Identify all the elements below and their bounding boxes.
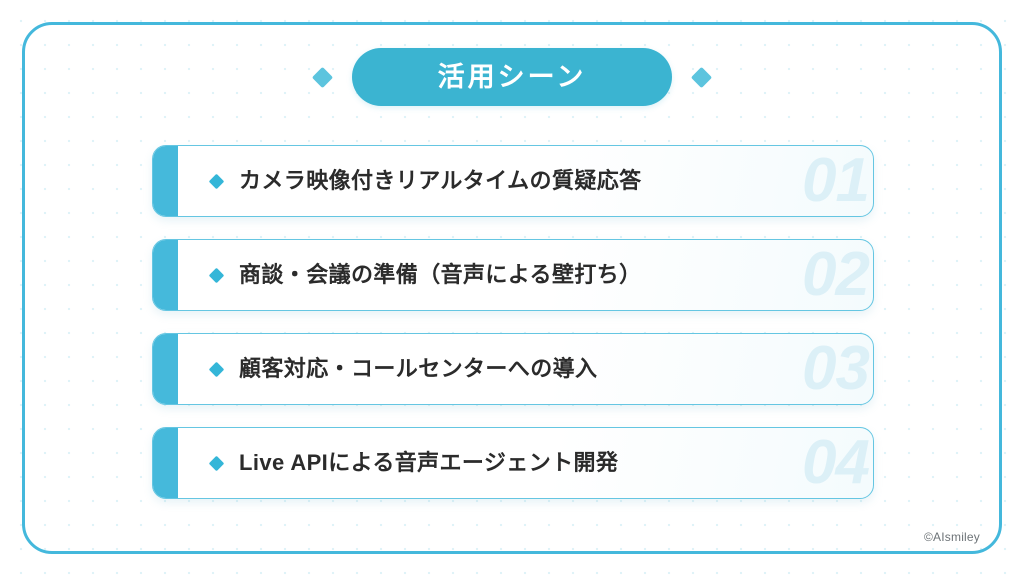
card-accent-bar [152, 333, 178, 405]
card-number-watermark: 04 [802, 432, 869, 494]
diamond-icon-right [691, 66, 712, 87]
diamond-bullet-icon [209, 267, 225, 283]
list-item[interactable]: 03 顧客対応・コールセンターへの導入 [152, 333, 874, 405]
page-title: 活用シーン [438, 64, 587, 91]
use-case-list: 01 カメラ映像付きリアルタイムの質疑応答 02 商談・会議の準備（音声による壁… [152, 145, 874, 499]
list-item[interactable]: 01 カメラ映像付きリアルタイムの質疑応答 [152, 145, 874, 217]
list-item-label: 顧客対応・コールセンターへの導入 [239, 358, 597, 380]
card-accent-bar [152, 145, 178, 217]
card-accent-bar [152, 239, 178, 311]
list-item[interactable]: 04 Live APIによる音声エージェント開発 [152, 427, 874, 499]
diamond-bullet-icon [209, 173, 225, 189]
list-item[interactable]: 02 商談・会議の準備（音声による壁打ち） [152, 239, 874, 311]
copyright-text: ©AIsmiley [924, 530, 980, 544]
page-title-pill: 活用シーン [352, 48, 672, 106]
card-accent-bar [152, 427, 178, 499]
diamond-bullet-icon [209, 455, 225, 471]
card-number-watermark: 03 [802, 338, 869, 400]
list-item-label: 商談・会議の準備（音声による壁打ち） [239, 264, 642, 286]
list-item-label: Live APIによる音声エージェント開発 [239, 452, 618, 474]
diamond-icon-left [312, 66, 333, 87]
list-item-label: カメラ映像付きリアルタイムの質疑応答 [239, 170, 642, 192]
card-number-watermark: 01 [802, 150, 869, 212]
heading-row: 活用シーン [0, 48, 1024, 106]
diamond-bullet-icon [209, 361, 225, 377]
slide-root: 活用シーン 01 カメラ映像付きリアルタイムの質疑応答 02 商談・会議の準備（… [0, 0, 1024, 576]
card-number-watermark: 02 [802, 244, 869, 306]
